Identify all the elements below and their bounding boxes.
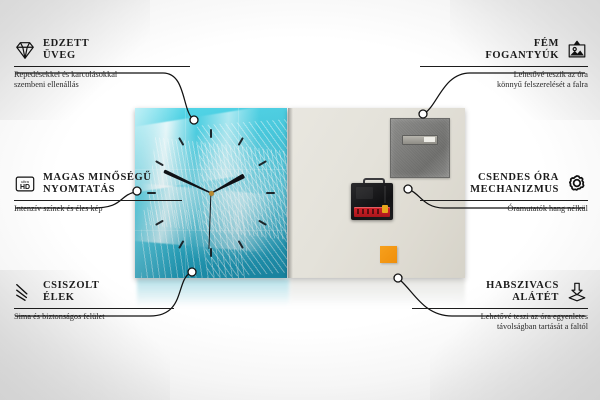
callout-title: CSISZOLT ÉLEK bbox=[43, 280, 99, 304]
quiet-clock-movement bbox=[351, 178, 393, 220]
clock-tick bbox=[238, 137, 244, 146]
clock-tick bbox=[178, 240, 184, 249]
callout-high-quality-print: ultra HD MAGAS MINŐSÉGŰ NYOMTATÁS Intenz… bbox=[14, 172, 182, 214]
callout-metal-handles: FÉM FOGANTYÚK Lehetővé teszik az óra kön… bbox=[420, 38, 588, 90]
callout-title: FÉM FOGANTYÚK bbox=[485, 38, 559, 62]
callout-description: Intenzív színek és éles kép bbox=[14, 204, 182, 214]
callout-title: HABSZIVACS ALÁTÉT bbox=[486, 280, 559, 304]
infographic-canvas: EDZETT ÜVEG Repedésekkel és karcolásokka… bbox=[0, 0, 600, 400]
svg-text:HD: HD bbox=[20, 184, 30, 191]
callout-divider bbox=[412, 308, 588, 309]
clock-tick bbox=[155, 220, 164, 226]
callout-silent-mechanism: CSENDES ÓRA MECHANIZMUS Óramutatók hang … bbox=[420, 172, 588, 214]
clock-hour-hand bbox=[210, 173, 245, 195]
clock-tick bbox=[238, 240, 244, 249]
callout-description: Sima és biztonságos felület bbox=[14, 312, 174, 322]
callout-divider bbox=[420, 200, 588, 201]
callout-polished-edges: CSISZOLT ÉLEK Sima és biztonságos felüle… bbox=[14, 280, 174, 322]
clock-tick bbox=[210, 248, 212, 257]
foam-pad-arrow-icon bbox=[566, 281, 588, 303]
clock-tick bbox=[266, 192, 275, 194]
gear-icon bbox=[566, 173, 588, 195]
clock-tick bbox=[258, 160, 267, 166]
callout-divider bbox=[14, 308, 174, 309]
foam-spacer-pad bbox=[380, 246, 397, 263]
clock-tick bbox=[178, 137, 184, 146]
callout-divider bbox=[14, 200, 182, 201]
clock-tick bbox=[210, 129, 212, 138]
clock-tick bbox=[258, 220, 267, 226]
callout-description: Lehetővé teszi az óra egyenletes távolsá… bbox=[412, 312, 588, 332]
callout-tempered-glass: EDZETT ÜVEG Repedésekkel és karcolásokka… bbox=[14, 38, 190, 90]
clock-center-pin bbox=[209, 191, 214, 196]
hanger-slot bbox=[402, 135, 438, 145]
picture-hanger-frame-icon bbox=[566, 39, 588, 61]
callout-title: CSENDES ÓRA MECHANIZMUS bbox=[470, 172, 559, 196]
callout-description: Repedésekkel és karcolásokkal szembeni e… bbox=[14, 70, 190, 90]
movement-battery bbox=[354, 207, 390, 217]
clock-tick bbox=[155, 160, 164, 166]
ultra-hd-badge-icon: ultra HD bbox=[14, 173, 36, 195]
product-photo-group bbox=[135, 108, 465, 278]
callout-foam-pad: HABSZIVACS ALÁTÉT Lehetővé teszi az óra … bbox=[412, 280, 588, 332]
callout-divider bbox=[14, 66, 190, 67]
callout-description: Óramutatók hang nélkül bbox=[420, 204, 588, 214]
callout-divider bbox=[420, 66, 588, 67]
diamond-gem-icon bbox=[14, 39, 36, 61]
polished-edges-icon bbox=[14, 281, 36, 303]
metal-texture bbox=[391, 119, 449, 177]
metal-hanger-plate bbox=[390, 118, 450, 178]
callout-title: EDZETT ÜVEG bbox=[43, 38, 89, 62]
callout-description: Lehetővé teszik az óra könnyű felszerelé… bbox=[420, 70, 588, 90]
clock-second-hand bbox=[208, 193, 211, 249]
callout-title: MAGAS MINŐSÉGŰ NYOMTATÁS bbox=[43, 172, 151, 196]
battery-label bbox=[357, 209, 380, 214]
